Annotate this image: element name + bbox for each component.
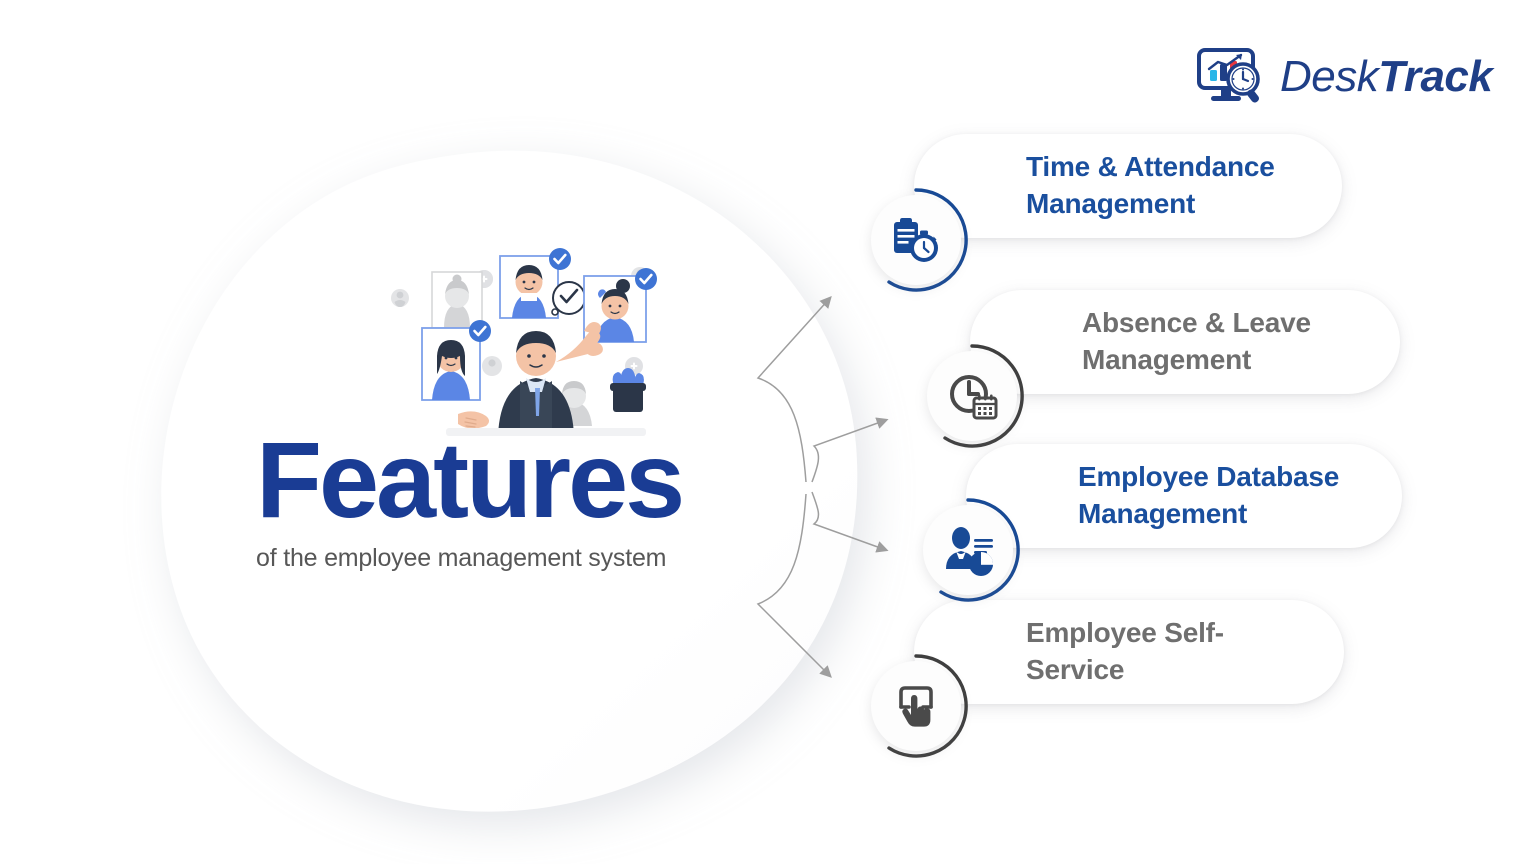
feature-badge [862,186,970,294]
feature-pill[interactable]: Employee Database Management [966,444,1402,548]
brand-name-part2: Track [1378,52,1492,101]
clock-calendar-icon [945,369,999,423]
feature-label: Employee Database Management [966,459,1402,533]
page-subtitle: of the employee management system [256,544,756,573]
clipboard-stopwatch-icon [889,213,943,267]
badge-disc [871,195,961,285]
badge-disc [923,505,1013,595]
brand-wordmark: DeskTrack [1280,55,1492,99]
feature-badge [918,342,1026,450]
infographic-canvas: DeskTrack [0,0,1536,864]
feature-badge [862,652,970,760]
page-title: Features [256,428,756,532]
feature-label: Absence & Leave Management [970,305,1400,379]
person-piechart-icon [941,523,995,577]
team-selection-illustration [388,236,688,436]
feature-label: Employee Self-Service [914,615,1344,689]
brand-logo: DeskTrack [1196,46,1492,108]
feature-pill[interactable]: Employee Self-Service [914,600,1344,704]
badge-disc [927,351,1017,441]
hero-title-block: Features of the employee management syst… [256,428,756,573]
feature-badge [914,496,1022,604]
badge-disc [871,661,961,751]
feature-label: Time & Attendance Management [914,149,1342,223]
desktrack-logo-icon [1196,46,1270,108]
feature-pill[interactable]: Absence & Leave Management [970,290,1400,394]
brand-name-part1: Desk [1280,52,1378,101]
feature-pill[interactable]: Time & Attendance Management [914,134,1342,238]
hand-tap-screen-icon [889,679,943,733]
